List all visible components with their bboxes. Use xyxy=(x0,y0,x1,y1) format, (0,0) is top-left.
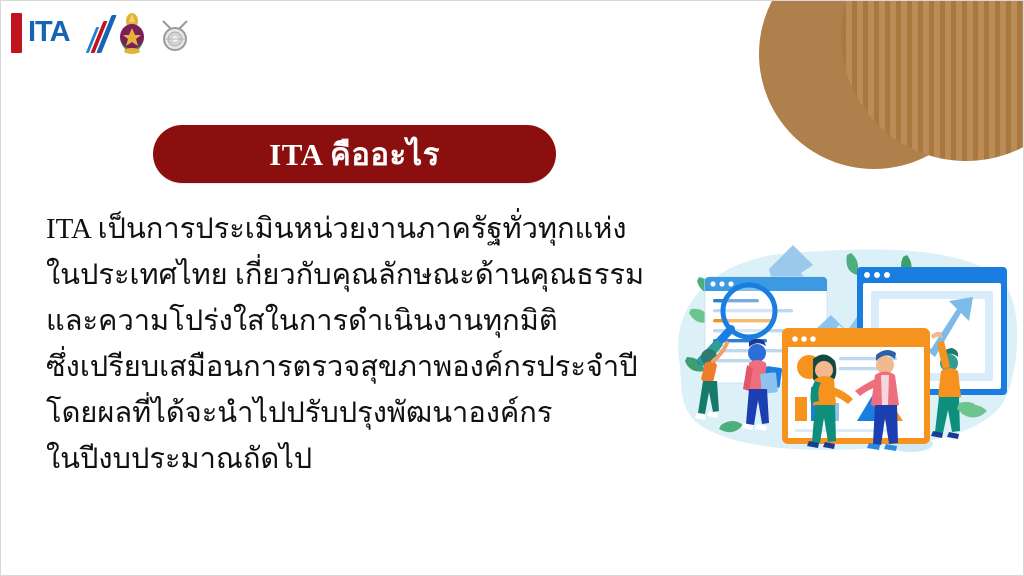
ita-logo-text: ITA xyxy=(28,17,70,47)
ita-logo-red-bar xyxy=(11,13,22,53)
body-line: ในประเทศไทย เกี่ยวกับคุณลักษณะด้านคุณธรร… xyxy=(46,252,671,298)
decorative-circles xyxy=(731,0,1024,209)
body-line: ซึ่งเปรียบเสมือนการตรวจสุขภาพองค์กรประจำ… xyxy=(46,344,671,390)
ita-logo: ITA xyxy=(11,12,106,54)
royal-thai-emblem-icon xyxy=(115,13,149,53)
government-seal-emblem-icon xyxy=(158,13,192,53)
slide-canvas: ITA xyxy=(0,0,1024,576)
page-title: ITA คืออะไร xyxy=(269,129,440,179)
body-paragraph: ITA เป็นการประเมินหน่วยงานภาครัฐทั่วทุกแ… xyxy=(46,206,671,482)
title-banner: ITA คืออะไร xyxy=(153,125,556,183)
body-line: ITA เป็นการประเมินหน่วยงานภาครัฐทั่วทุกแ… xyxy=(46,206,671,252)
teamwork-data-analysis-illustration xyxy=(661,239,1024,479)
ita-logo-mark: ITA xyxy=(28,13,106,53)
header-logos: ITA xyxy=(11,11,192,55)
browser-window-center-orange xyxy=(785,331,927,441)
body-line: โดยผลที่ได้จะนำไปปรับปรุงพัฒนาองค์กร xyxy=(46,390,671,436)
body-line: และความโปร่งใสในการดำเนินงานทุกมิติ xyxy=(46,298,671,344)
body-line: ในปีงบประมาณถัดไป xyxy=(46,436,671,482)
